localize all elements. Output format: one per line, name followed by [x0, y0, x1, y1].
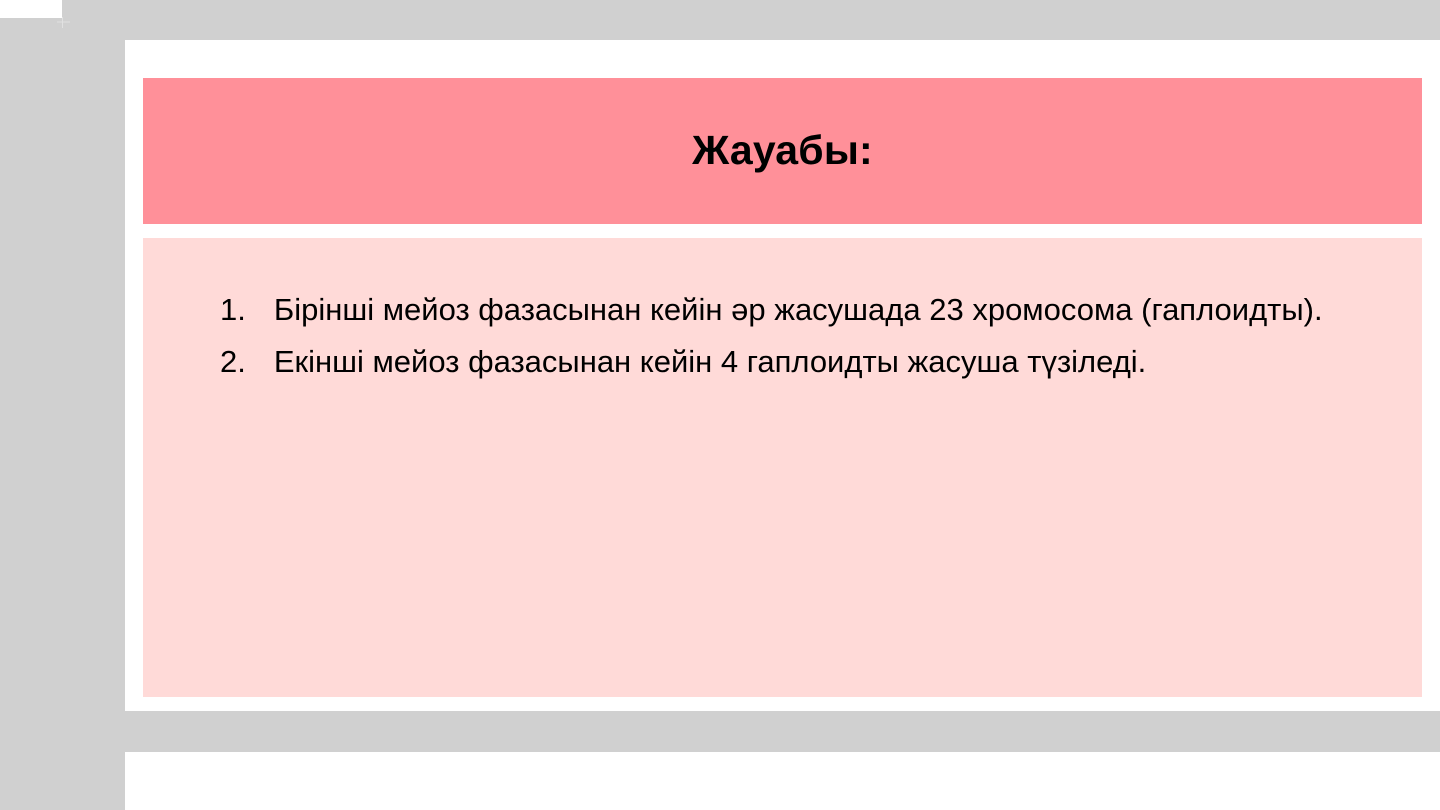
answer-card: Жауабы: 1.Бірінші мейоз фазасынан кейін …: [143, 78, 1422, 697]
list-item-text: Екінші мейоз фазасынан кейін 4 гаплоидты…: [274, 344, 1146, 379]
answer-card-header: Жауабы:: [143, 78, 1422, 224]
page-title: Жауабы:: [692, 128, 873, 173]
list-item-number: 1.: [220, 292, 246, 327]
band-separator: [0, 711, 1440, 752]
corner-notch: [0, 0, 62, 18]
footer-canvas: [125, 752, 1440, 810]
list-item-text: Бірінші мейоз фазасынан кейін әр жасушад…: [274, 292, 1323, 327]
list-item: 2.Екінші мейоз фазасынан кейін 4 гаплоид…: [220, 336, 1382, 388]
card-divider: [143, 224, 1422, 238]
answer-list: 1.Бірінші мейоз фазасынан кейін әр жасуш…: [220, 284, 1382, 388]
answer-card-body: 1.Бірінші мейоз фазасынан кейін әр жасуш…: [143, 238, 1422, 697]
slide-canvas: Жауабы: 1.Бірінші мейоз фазасынан кейін …: [125, 40, 1440, 711]
list-item: 1.Бірінші мейоз фазасынан кейін әр жасуш…: [220, 284, 1382, 336]
slide-root: Жауабы: 1.Бірінші мейоз фазасынан кейін …: [0, 0, 1440, 810]
scan-artifact-icon: [57, 17, 70, 28]
list-item-number: 2.: [220, 344, 246, 379]
